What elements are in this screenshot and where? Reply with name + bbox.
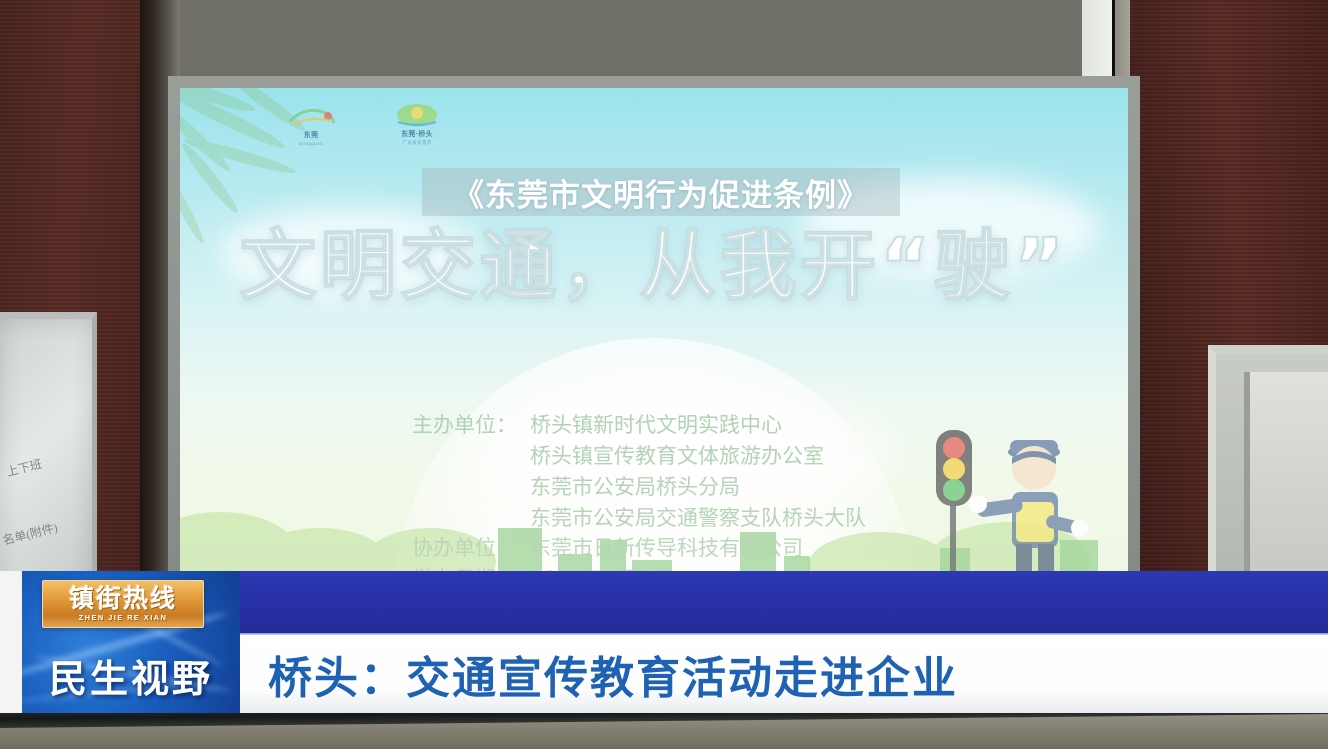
headline-text: 桥头：交通宣传教育活动走进企业 [268,642,958,706]
traffic-light-icon [936,430,972,574]
traffic-police-officer-graphic [930,418,1110,578]
qiaotou-town-logo: 东莞·桥头 广东省东莞市 [390,102,444,146]
left-whiteboard: 上下班 名单(附件) [0,312,97,594]
organizer-value: 东莞市公安局桥头分局 [530,472,740,503]
dongguan-logo-name: 东莞 [304,130,319,140]
slide-main-title: 文明交通，从我开“驶” [180,228,1128,304]
organizer-key [412,472,530,503]
co-organizer-key: 协办单位： [412,533,530,564]
program-badge-pinyin: ZHEN JIE RE XIAN [79,613,168,622]
co-organizer-value: 东莞市日新传导科技有限公司 [530,533,803,564]
organizer-value: 桥头镇宣传教育文体旅游办公室 [530,441,824,472]
dongguan-logo-icon [284,103,338,129]
lower-third-graphic: 镇街热线 ZHEN JIE RE XIAN 民生视野 桥头：交通宣传教育活动走进… [0,571,1328,713]
organizer-value: 桥头镇新时代文明实践中心 [530,410,782,441]
organizer-value: 东莞市公安局交通警察支队桥头大队 [530,503,866,534]
section-label: 民生视野 [22,637,240,713]
dongguan-logo-sub: Dongguan [299,141,323,146]
organizer-key [412,441,530,472]
section-label-text: 民生视野 [49,648,213,703]
program-badge: 镇街热线 ZHEN JIE RE XIAN [42,580,204,628]
police-officer-figure [969,440,1089,574]
qiaotou-logo-sub: 广东省东莞市 [402,140,431,146]
dongguan-city-logo: 东莞 Dongguan [284,103,338,146]
qiaotou-logo-icon [390,102,444,128]
headline-band: 桥头：交通宣传教育活动走进企业 [240,635,1328,713]
regulation-title-band: 《东莞市文明行为促进条例》 [422,168,900,216]
presentation-slide: 东莞 Dongguan 东莞·桥头 广东省东莞市 《东莞市文明行为促进条例》 文… [180,88,1128,586]
slide-logo-row: 东莞 Dongguan 东莞·桥头 广东省东莞市 [284,96,534,152]
qiaotou-logo-name: 东莞·桥头 [401,129,433,139]
broadcast-frame: 上下班 名单(附件) [0,0,1328,749]
organizer-key [412,503,530,534]
program-badge-title: 镇街热线 [69,586,177,611]
lower-third-left-strip [0,571,22,713]
right-door-panel [1244,372,1328,590]
whiteboard-note-2: 名单(附件) [1,518,59,548]
organizer-key: 主办单位： [412,410,530,441]
whiteboard-note-1: 上下班 [4,455,43,480]
regulation-title-text: 《东莞市文明行为促进条例》 [453,170,869,215]
